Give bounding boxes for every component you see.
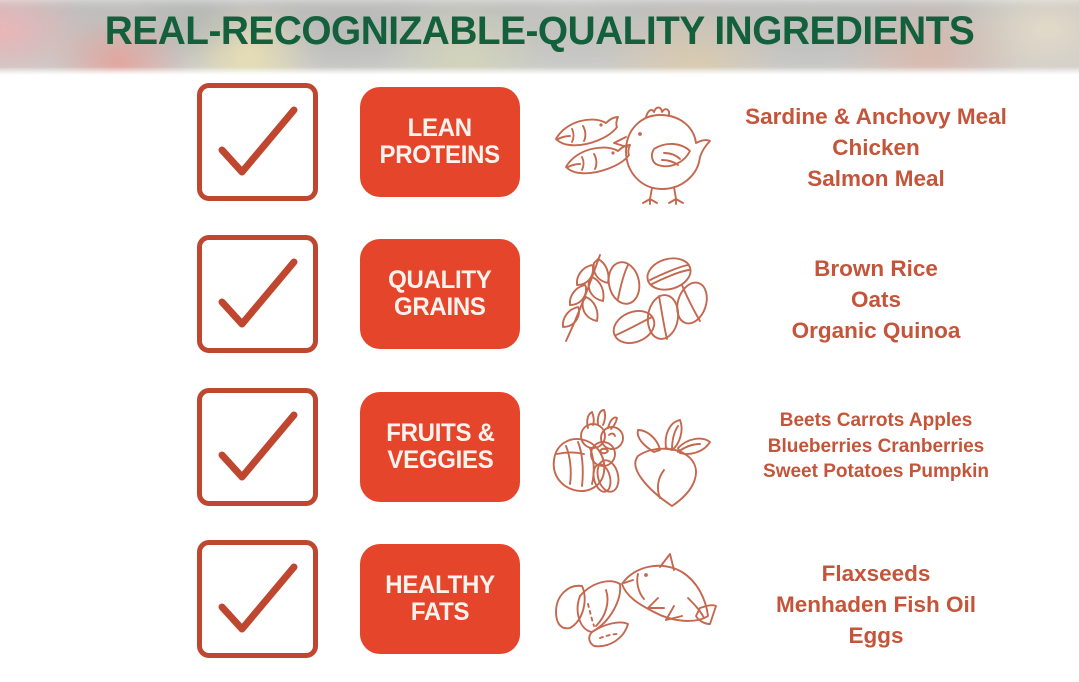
header-fade-divider: [0, 67, 1079, 75]
infographic-page: REAL-RECOGNIZABLE-QUALITY INGREDIENTS LE…: [0, 0, 1079, 682]
ingredient-item: Menhaden Fish Oil: [706, 589, 1046, 620]
checkmark-icon: [202, 240, 313, 348]
ingredient-item: Eggs: [706, 620, 1046, 651]
checkmark-icon: [202, 545, 313, 653]
checkmark-icon: [202, 393, 313, 501]
checkbox-fruits-and-veggies[interactable]: [197, 388, 318, 506]
ingredient-row-fruits-and-veggies: FRUITS & VEGGIES: [0, 380, 1079, 530]
fish-and-chicken-icon: [548, 93, 720, 205]
badge-label: QUALITY GRAINS: [388, 267, 491, 321]
badge-label: HEALTHY FATS: [385, 572, 495, 626]
ingredient-list-healthy-fats: Flaxseeds Menhaden Fish Oil Eggs: [706, 558, 1046, 651]
ingredient-item: Beets Carrots Apples: [706, 408, 1046, 434]
checkbox-healthy-fats[interactable]: [197, 540, 318, 658]
sweet-potato-beet-berries-icon: [548, 398, 720, 510]
ingredient-row-healthy-fats: HEALTHY FATS: [0, 532, 1079, 682]
badge-healthy-fats[interactable]: HEALTHY FATS: [360, 544, 520, 654]
ingredient-item: Chicken: [706, 132, 1046, 163]
ingredient-list-fruits-and-veggies: Beets Carrots Apples Blueberries Cranber…: [706, 408, 1046, 485]
ingredient-item: Brown Rice: [706, 253, 1046, 284]
ingredient-item: Sweet Potatoes Pumpkin: [706, 459, 1046, 485]
checkmark-icon: [202, 88, 313, 196]
flaxseed-and-fish-icon: [548, 550, 720, 662]
checkbox-lean-proteins[interactable]: [197, 83, 318, 201]
ingredient-rows: LEAN PROTEINS: [0, 75, 1079, 682]
page-title: REAL-RECOGNIZABLE-QUALITY INGREDIENTS: [16, 9, 1063, 54]
header-banner: REAL-RECOGNIZABLE-QUALITY INGREDIENTS: [0, 0, 1079, 75]
ingredient-item: Oats: [706, 284, 1046, 315]
badge-lean-proteins[interactable]: LEAN PROTEINS: [360, 87, 520, 197]
ingredient-list-lean-proteins: Sardine & Anchovy Meal Chicken Salmon Me…: [706, 101, 1046, 194]
ingredient-item: Flaxseeds: [706, 558, 1046, 589]
ingredient-list-quality-grains: Brown Rice Oats Organic Quinoa: [706, 253, 1046, 346]
ingredient-item: Blueberries Cranberries: [706, 434, 1046, 460]
ingredient-row-quality-grains: QUALITY GRAINS: [0, 227, 1079, 377]
ingredient-item: Organic Quinoa: [706, 315, 1046, 346]
ingredient-item: Salmon Meal: [706, 163, 1046, 194]
badge-fruits-and-veggies[interactable]: FRUITS & VEGGIES: [360, 392, 520, 502]
badge-label: LEAN PROTEINS: [380, 115, 500, 169]
ingredient-item: Sardine & Anchovy Meal: [706, 101, 1046, 132]
grain-stalk-and-kernels-icon: [548, 245, 720, 357]
badge-quality-grains[interactable]: QUALITY GRAINS: [360, 239, 520, 349]
badge-label: FRUITS & VEGGIES: [386, 420, 494, 474]
ingredient-row-lean-proteins: LEAN PROTEINS: [0, 75, 1079, 225]
checkbox-quality-grains[interactable]: [197, 235, 318, 353]
